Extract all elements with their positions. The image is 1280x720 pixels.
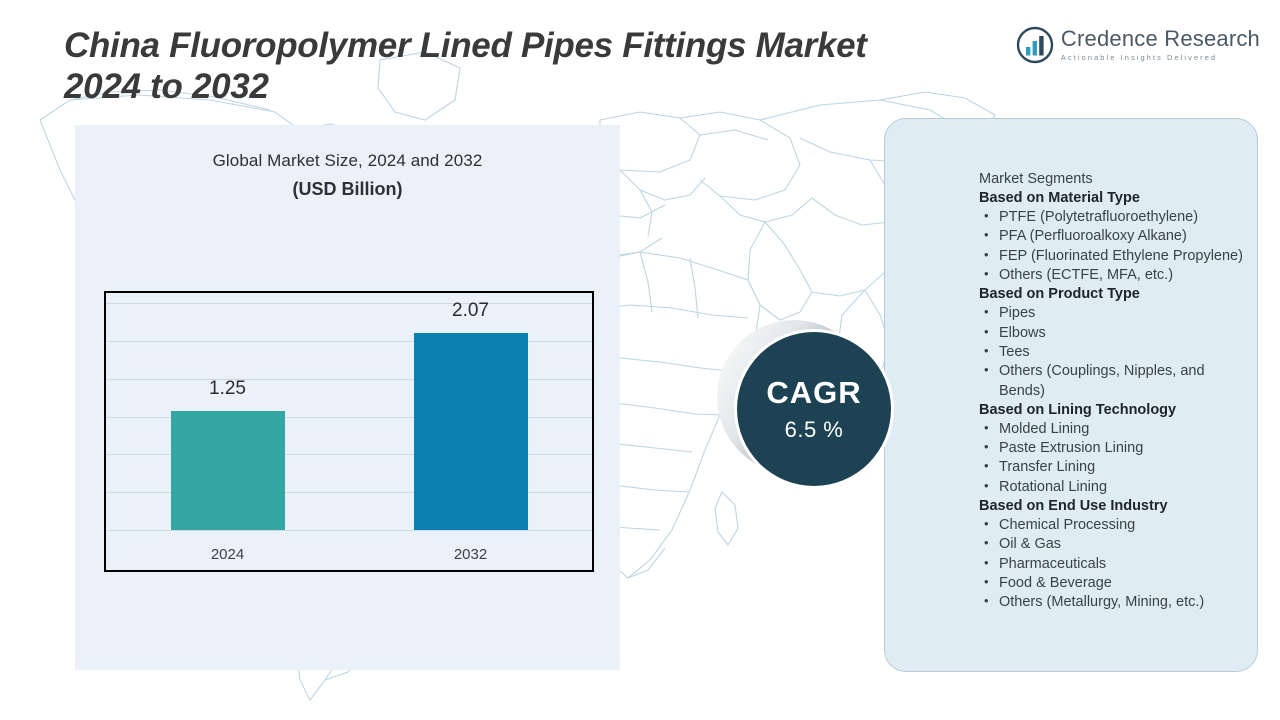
segment-group-title: Based on End Use Industry [979, 497, 1249, 516]
market-segments-content: Market Segments Based on Material TypePT… [979, 171, 1249, 613]
segment-list-item: Others (Metallurgy, Mining, etc.) [979, 593, 1249, 612]
market-segments-heading: Market Segments [979, 171, 1249, 187]
logo-brand-part2: Research [1158, 26, 1260, 51]
segment-list-item: PFA (Perfluoroalkoxy Alkane) [979, 227, 1249, 246]
chart-category-label: 2032 [454, 546, 487, 563]
market-segments-panel: Market Segments Based on Material TypePT… [884, 118, 1258, 672]
page-title-line-1: China Fluoropolymer Lined Pipes Fittings… [64, 26, 1074, 67]
segment-list-item: Pipes [979, 304, 1249, 323]
logo-text-block: Credence Research Actionable Insights De… [1061, 28, 1260, 61]
cagr-value: 6.5 % [785, 417, 844, 443]
segment-list-item: Paste Extrusion Lining [979, 439, 1249, 458]
credence-research-logo[interactable]: Credence Research Actionable Insights De… [1014, 26, 1260, 64]
chart-gridline [106, 303, 592, 304]
segment-list-item: Elbows [979, 324, 1249, 343]
segment-list-item: Molded Lining [979, 420, 1249, 439]
segment-list-item: PTFE (Polytetrafluoroethylene) [979, 208, 1249, 227]
chart-category-label: 2024 [211, 546, 244, 563]
chart-heading-block: Global Market Size, 2024 and 2032 (USD B… [75, 151, 620, 200]
page-title-line-2: 2024 to 2032 [64, 67, 1074, 108]
segment-group-title: Based on Product Type [979, 285, 1249, 304]
logo-brand-part1: Credence [1061, 26, 1158, 51]
segment-group-title: Based on Material Type [979, 189, 1249, 208]
chart-bar-fill [414, 333, 528, 530]
chart-bar-fill [171, 411, 285, 530]
cagr-badge: CAGR 6.5 % [737, 332, 891, 486]
segment-list-item: Oil & Gas [979, 535, 1249, 554]
chart-bar-value-label: 1.25 [209, 378, 246, 400]
logo-brand: Credence Research [1061, 28, 1260, 50]
bar-chart-circle-icon [1016, 26, 1054, 64]
segment-list-item: Others (ECTFE, MFA, etc.) [979, 266, 1249, 285]
cagr-label: CAGR [766, 375, 861, 411]
chart-title: Global Market Size, 2024 and 2032 [75, 151, 620, 171]
chart-bar-value-label: 2.07 [452, 300, 489, 322]
chart-bar: 2.072032 [414, 333, 528, 530]
segment-group-title: Based on Lining Technology [979, 401, 1249, 420]
logo-tagline: Actionable Insights Delivered [1061, 54, 1260, 61]
chart-subtitle: (USD Billion) [75, 179, 620, 200]
segment-list-item: Chemical Processing [979, 516, 1249, 535]
cagr-circle: CAGR 6.5 % [737, 332, 891, 486]
chart-gridline [106, 530, 592, 531]
segment-list-item: Pharmaceuticals [979, 555, 1249, 574]
chart-bar: 1.252024 [171, 411, 285, 530]
page-title: China Fluoropolymer Lined Pipes Fittings… [64, 26, 1074, 108]
chart-plot-area: 1.2520242.072032 [104, 291, 594, 572]
segment-list-item: Food & Beverage [979, 574, 1249, 593]
segment-list-item: Others (Couplings, Nipples, and Bends) [979, 362, 1249, 401]
segment-list-item: Rotational Lining [979, 478, 1249, 497]
segment-list-item: FEP (Fluorinated Ethylene Propylene) [979, 247, 1249, 266]
segment-list-item: Tees [979, 343, 1249, 362]
market-size-chart-panel: Global Market Size, 2024 and 2032 (USD B… [75, 125, 620, 670]
segment-list-item: Transfer Lining [979, 458, 1249, 477]
